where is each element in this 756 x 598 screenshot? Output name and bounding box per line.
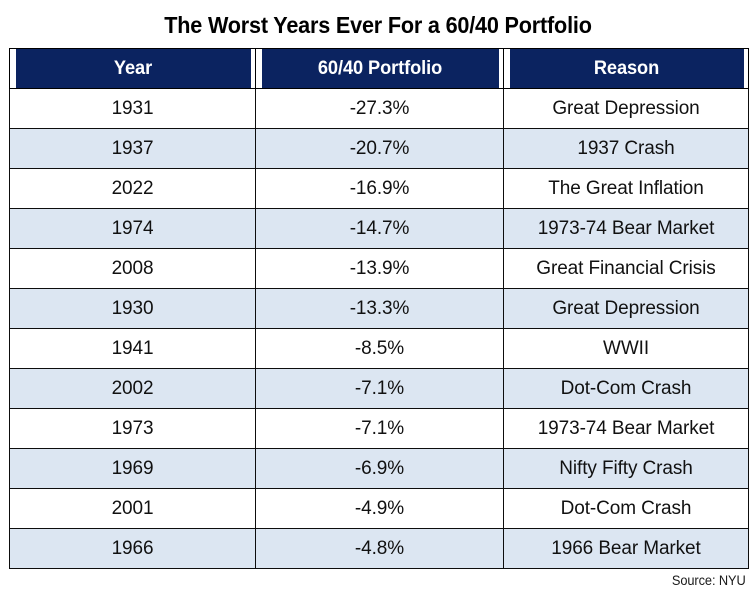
cell-year: 2022 — [10, 169, 256, 209]
table-row: 1973 -7.1% 1973-74 Bear Market — [10, 409, 749, 449]
cell-year: 2002 — [10, 369, 256, 409]
worst-years-table: Year 60/40 Portfolio Reason 1931 -27.3% … — [9, 48, 749, 569]
page-title: The Worst Years Ever For a 60/40 Portfol… — [23, 0, 734, 48]
cell-portfolio: -16.9% — [256, 169, 504, 209]
column-header-year[interactable]: Year — [14, 49, 250, 89]
table-row: 2022 -16.9% The Great Inflation — [10, 169, 749, 209]
cell-reason: Dot-Com Crash — [504, 489, 749, 529]
cell-year: 1930 — [10, 289, 256, 329]
cell-portfolio: -7.1% — [256, 409, 504, 449]
cell-year: 1969 — [10, 449, 256, 489]
cell-reason: The Great Inflation — [504, 169, 749, 209]
table-row: 1937 -20.7% 1937 Crash — [10, 129, 749, 169]
cell-portfolio: -14.7% — [256, 209, 504, 249]
cell-reason: Nifty Fifty Crash — [504, 449, 749, 489]
table-row: 1931 -27.3% Great Depression — [10, 89, 749, 129]
cell-reason: Great Depression — [504, 89, 749, 129]
cell-portfolio: -13.3% — [256, 289, 504, 329]
table-row: 1941 -8.5% WWII — [10, 329, 749, 369]
cell-year: 2001 — [10, 489, 256, 529]
worst-years-table-container: Year 60/40 Portfolio Reason 1931 -27.3% … — [9, 48, 748, 569]
cell-reason: Great Depression — [504, 289, 749, 329]
cell-portfolio: -4.8% — [256, 529, 504, 569]
table-row: 1966 -4.8% 1966 Bear Market — [10, 529, 749, 569]
table-row: 1974 -14.7% 1973-74 Bear Market — [10, 209, 749, 249]
cell-year: 1973 — [10, 409, 256, 449]
table-row: 2008 -13.9% Great Financial Crisis — [10, 249, 749, 289]
table-row: 1969 -6.9% Nifty Fifty Crash — [10, 449, 749, 489]
cell-portfolio: -20.7% — [256, 129, 504, 169]
cell-portfolio: -7.1% — [256, 369, 504, 409]
cell-reason: 1973-74 Bear Market — [504, 209, 749, 249]
cell-portfolio: -13.9% — [256, 249, 504, 289]
cell-reason: 1966 Bear Market — [504, 529, 749, 569]
cell-portfolio: -6.9% — [256, 449, 504, 489]
cell-year: 2008 — [10, 249, 256, 289]
table-row: 2002 -7.1% Dot-Com Crash — [10, 369, 749, 409]
cell-reason: 1973-74 Bear Market — [504, 409, 749, 449]
cell-year: 1937 — [10, 129, 256, 169]
cell-reason: Dot-Com Crash — [504, 369, 749, 409]
cell-year: 1966 — [10, 529, 256, 569]
table-header: Year 60/40 Portfolio Reason — [10, 49, 749, 89]
cell-reason: 1937 Crash — [504, 129, 749, 169]
column-header-portfolio[interactable]: 60/40 Portfolio — [260, 49, 498, 89]
cell-year: 1941 — [10, 329, 256, 369]
cell-year: 1974 — [10, 209, 256, 249]
column-header-reason[interactable]: Reason — [508, 49, 743, 89]
source-note: Source: NYU — [672, 573, 746, 588]
cell-portfolio: -8.5% — [256, 329, 504, 369]
cell-portfolio: -4.9% — [256, 489, 504, 529]
cell-year: 1931 — [10, 89, 256, 129]
cell-reason: Great Financial Crisis — [504, 249, 749, 289]
table-header-row: Year 60/40 Portfolio Reason — [10, 49, 749, 89]
table-row: 2001 -4.9% Dot-Com Crash — [10, 489, 749, 529]
table-row: 1930 -13.3% Great Depression — [10, 289, 749, 329]
cell-portfolio: -27.3% — [256, 89, 504, 129]
table-body: 1931 -27.3% Great Depression 1937 -20.7%… — [10, 89, 749, 569]
cell-reason: WWII — [504, 329, 749, 369]
